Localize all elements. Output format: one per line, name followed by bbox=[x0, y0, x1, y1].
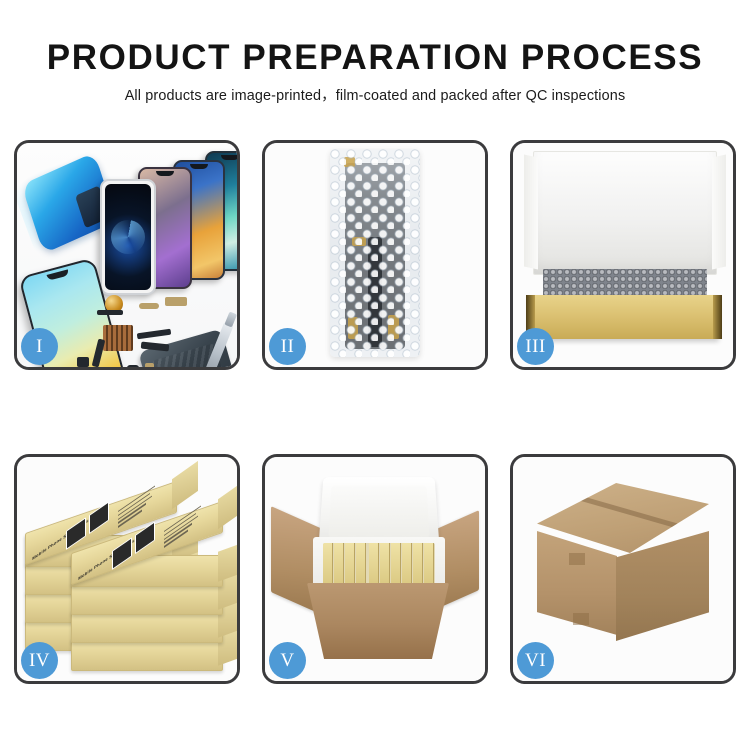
small-part bbox=[97, 310, 123, 315]
tape-patch bbox=[573, 613, 589, 625]
small-part bbox=[145, 363, 154, 367]
process-step-grid: I II I bbox=[14, 140, 736, 684]
retail-box bbox=[71, 583, 223, 615]
step-badge-4: IV bbox=[21, 642, 58, 679]
small-part bbox=[77, 357, 89, 367]
notch-icon bbox=[221, 155, 237, 160]
box-lid bbox=[533, 151, 717, 275]
phone-dark-blue bbox=[100, 179, 156, 295]
small-part bbox=[139, 303, 159, 309]
bubble-texture bbox=[330, 149, 420, 357]
step-badge-3: III bbox=[517, 328, 554, 365]
chip-grid-part bbox=[103, 325, 133, 351]
shipping-carton-open bbox=[307, 583, 449, 659]
page-subtitle: All products are image-printed，film-coat… bbox=[0, 87, 750, 105]
process-step-panel-1[interactable]: I bbox=[14, 140, 240, 370]
phone-screen bbox=[105, 184, 151, 290]
step-badge-5: V bbox=[269, 642, 306, 679]
notch-icon bbox=[190, 164, 208, 169]
process-step-panel-2[interactable]: II bbox=[262, 140, 488, 370]
box-stack: Mobile Phone Spare Parts Mobile Phone Sp… bbox=[25, 471, 231, 667]
step-badge-6: VI bbox=[517, 642, 554, 679]
header: PRODUCT PREPARATION PROCESS All products… bbox=[0, 0, 750, 105]
retail-box bbox=[71, 611, 223, 643]
process-step-panel-3[interactable]: III bbox=[510, 140, 736, 370]
process-step-panel-4[interactable]: Mobile Phone Spare Parts Mobile Phone Sp… bbox=[14, 454, 240, 684]
process-step-panel-6[interactable]: VI bbox=[510, 454, 736, 684]
tape-patch bbox=[569, 553, 585, 565]
small-part bbox=[127, 365, 139, 367]
product-preparation-infographic: PRODUCT PREPARATION PROCESS All products… bbox=[0, 0, 750, 750]
notch-icon bbox=[156, 171, 174, 176]
packed-boxes-group bbox=[323, 543, 435, 589]
step-badge-2: II bbox=[269, 328, 306, 365]
step-badge-1: I bbox=[21, 328, 58, 365]
bubble-wrap-bag bbox=[330, 149, 420, 357]
page-title: PRODUCT PREPARATION PROCESS bbox=[0, 38, 750, 78]
kraft-box-tray bbox=[529, 295, 719, 339]
retail-box bbox=[71, 639, 223, 671]
process-step-panel-5[interactable]: V bbox=[262, 454, 488, 684]
flex-cable-part bbox=[137, 329, 172, 340]
small-part bbox=[165, 297, 187, 306]
